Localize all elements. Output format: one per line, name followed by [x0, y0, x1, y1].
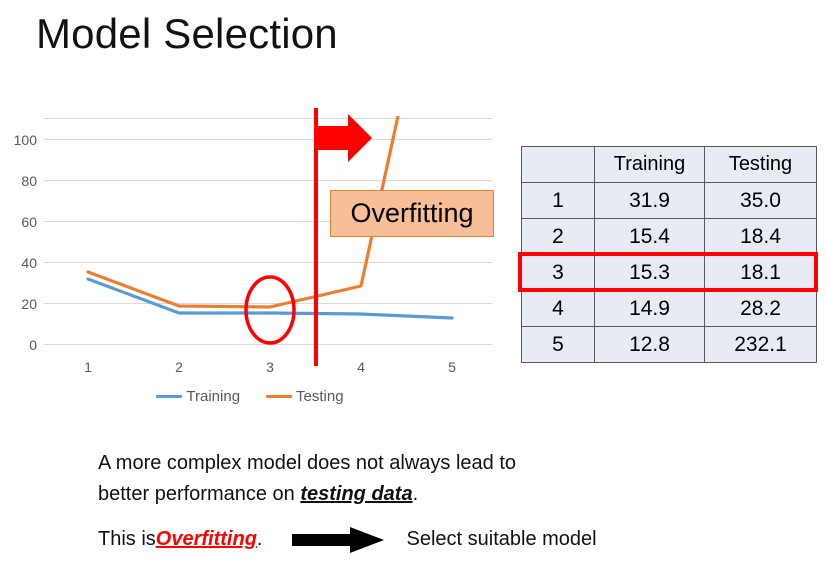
table-cell-testing: 35.0	[705, 183, 817, 219]
table-cell-testing: 18.1	[705, 255, 817, 291]
body-line-2-emphasis: testing data	[300, 483, 412, 505]
legend-swatch-testing	[266, 395, 292, 398]
y-tick-40: 40	[21, 255, 37, 271]
table-cell-index: 1	[522, 183, 595, 219]
table-cell-testing: 18.4	[705, 219, 817, 255]
table-row: 2 15.4 18.4	[522, 219, 817, 255]
overfitting-callout-label: Overfitting	[350, 200, 473, 227]
body-line-3-before: This is	[98, 524, 156, 555]
table-header-training: Training	[595, 147, 705, 183]
x-tick-1: 1	[84, 359, 92, 375]
red-right-arrow-icon	[318, 114, 372, 162]
page-title: Model Selection	[36, 10, 338, 58]
table-row: 4 14.9 28.2	[522, 291, 817, 327]
body-line-3-tail: Select suitable model	[406, 524, 596, 555]
table-header-row: Training Testing	[522, 147, 817, 183]
table-cell-testing: 232.1	[705, 327, 817, 363]
selected-model-marker-icon	[246, 277, 294, 343]
table-row: 5 12.8 232.1	[522, 327, 817, 363]
x-tick-5: 5	[448, 359, 456, 375]
y-tick-100: 100	[14, 132, 38, 148]
legend-item-testing[interactable]: Testing	[266, 388, 344, 405]
overfitting-callout: Overfitting	[330, 190, 494, 237]
body-line-2-after: .	[413, 483, 419, 505]
x-tick-4: 4	[357, 359, 365, 375]
body-line-3-after: .	[257, 524, 263, 555]
y-tick-60: 60	[21, 214, 37, 230]
table-cell-training: 15.4	[595, 219, 705, 255]
chart-x-axis-labels: 1 2 3 4 5	[84, 359, 456, 375]
table-row-highlighted: 3 15.3 18.1	[522, 255, 817, 291]
body-line-2-before: better performance on	[98, 483, 300, 505]
body-text: A more complex model does not always lea…	[98, 448, 798, 555]
table-cell-training: 31.9	[595, 183, 705, 219]
results-table: Training Testing 1 31.9 35.0 2 15.4 18.4…	[521, 146, 817, 363]
model-selection-chart: 100 80 60 40 20 0 1 2 3 4 5	[0, 108, 500, 418]
x-tick-3: 3	[266, 359, 274, 375]
y-tick-80: 80	[21, 173, 37, 189]
chart-legend: Training Testing	[0, 388, 500, 405]
series-training-line	[88, 279, 452, 318]
legend-label-training: Training	[186, 388, 240, 405]
body-line-3-emphasis: Overfitting	[156, 524, 257, 555]
body-line-2: better performance on testing data.	[98, 479, 798, 510]
legend-swatch-training	[156, 395, 182, 398]
table-cell-training: 12.8	[595, 327, 705, 363]
table-cell-training: 14.9	[595, 291, 705, 327]
chart-svg: 100 80 60 40 20 0 1 2 3 4 5	[0, 108, 500, 418]
table-header-testing: Testing	[705, 147, 817, 183]
table-row: 1 31.9 35.0	[522, 183, 817, 219]
table-cell-index: 2	[522, 219, 595, 255]
table-cell-testing: 28.2	[705, 291, 817, 327]
table-header-index	[522, 147, 595, 183]
body-line-3: This is Overfitting. Select suitable mod…	[98, 524, 798, 555]
right-arrow-icon	[292, 527, 384, 553]
legend-label-testing: Testing	[296, 388, 344, 405]
table-cell-index: 3	[522, 255, 595, 291]
chart-y-axis-labels: 100 80 60 40 20 0	[14, 132, 38, 353]
y-tick-20: 20	[21, 296, 37, 312]
body-line-1: A more complex model does not always lea…	[98, 448, 798, 479]
legend-item-training[interactable]: Training	[156, 388, 240, 405]
y-tick-0: 0	[29, 337, 37, 353]
table-cell-index: 4	[522, 291, 595, 327]
table-cell-training: 15.3	[595, 255, 705, 291]
table-cell-index: 5	[522, 327, 595, 363]
slide-canvas: Model Selection 100 80 60 40 20 0	[0, 0, 825, 568]
x-tick-2: 2	[175, 359, 183, 375]
